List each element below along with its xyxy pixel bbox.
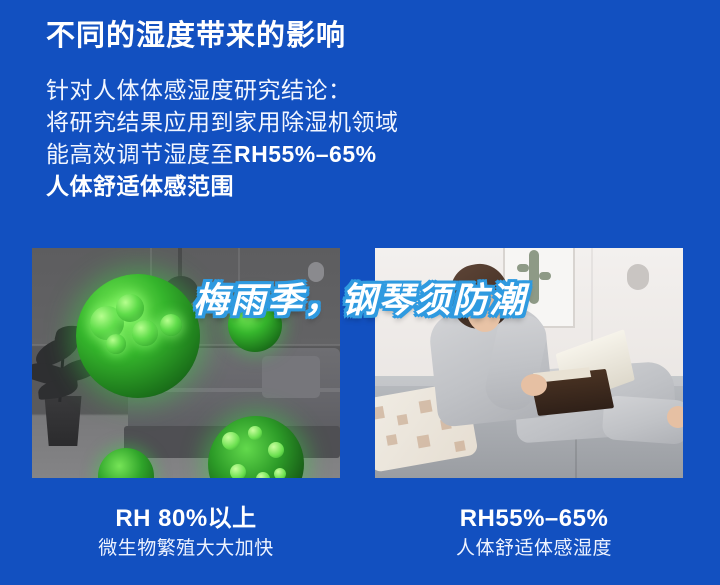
intro-line-3-plain: 能高效调节湿度至 [46, 141, 234, 167]
intro-paragraph: 针对人体体感湿度研究结论： 将研究结果应用到家用除湿机领域 能高效调节湿度至RH… [46, 74, 686, 202]
person-foot-icon [667, 406, 683, 428]
poster-root: 不同的湿度带来的影响 针对人体体感湿度研究结论： 将研究结果应用到家用除湿机领域… [0, 0, 720, 585]
caption-comfort-humidity-description: 人体舒适体感湿度 [364, 535, 704, 563]
intro-line-1: 针对人体体感湿度研究结论： [46, 74, 686, 106]
overlay-headline: 梅雨季，钢琴须防潮 [0, 272, 720, 323]
cushion-icon [262, 356, 320, 398]
microbe-cell-icon [230, 464, 246, 478]
caption-high-humidity-description: 微生物繁殖大大加快 [16, 535, 356, 563]
microbe-cell-icon [132, 320, 158, 346]
microbe-cell-icon [222, 432, 240, 450]
microbe-cell-icon [268, 442, 284, 458]
caption-high-humidity: RH 80%以上 微生物繁殖大大加快 [16, 503, 356, 563]
microbe-cell-icon [248, 426, 262, 440]
intro-line-4: 人体舒适体感范围 [46, 170, 686, 202]
person-hand-icon [521, 374, 547, 396]
microbe-cell-icon [256, 472, 270, 478]
intro-line-3: 能高效调节湿度至RH55%–65% [46, 138, 686, 170]
caption-comfort-humidity: RH55%–65% 人体舒适体感湿度 [364, 503, 704, 563]
header-block: 不同的湿度带来的影响 针对人体体感湿度研究结论： 将研究结果应用到家用除湿机领域… [46, 14, 686, 202]
microbe-cell-icon [106, 334, 126, 354]
caption-high-humidity-value: RH 80%以上 [16, 503, 356, 535]
microbe-cell-icon [274, 468, 286, 478]
caption-comfort-humidity-value: RH55%–65% [364, 503, 704, 535]
intro-line-2: 将研究结果应用到家用除湿机领域 [46, 106, 686, 138]
caption-row: RH 80%以上 微生物繁殖大大加快 RH55%–65% 人体舒适体感湿度 [0, 503, 720, 585]
page-title: 不同的湿度带来的影响 [46, 14, 686, 58]
intro-line-3-humidity-range: RH55%–65% [234, 141, 377, 167]
plant-pot-icon [42, 396, 84, 446]
